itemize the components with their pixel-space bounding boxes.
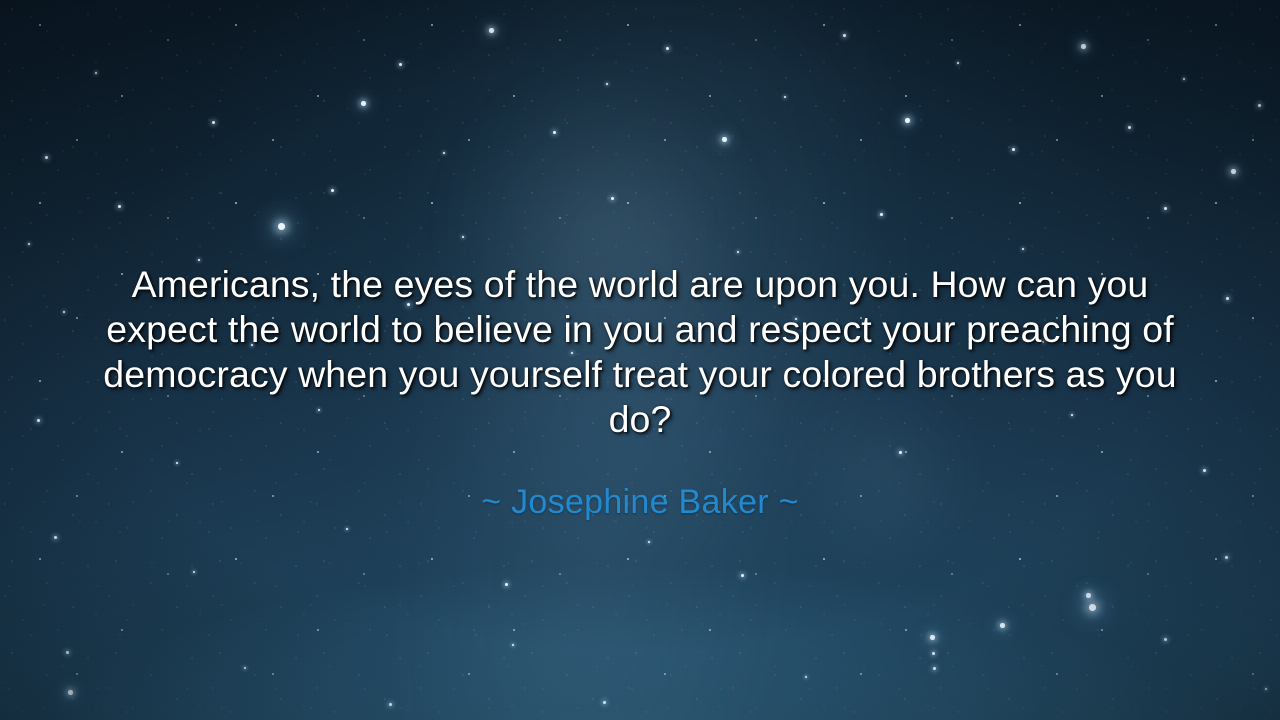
- quote-text: Americans, the eyes of the world are upo…: [81, 262, 1199, 442]
- quote-block: Americans, the eyes of the world are upo…: [0, 262, 1280, 522]
- quote-attribution: ~ Josephine Baker ~: [56, 482, 1224, 522]
- quote-image-scene: Americans, the eyes of the world are upo…: [0, 0, 1280, 720]
